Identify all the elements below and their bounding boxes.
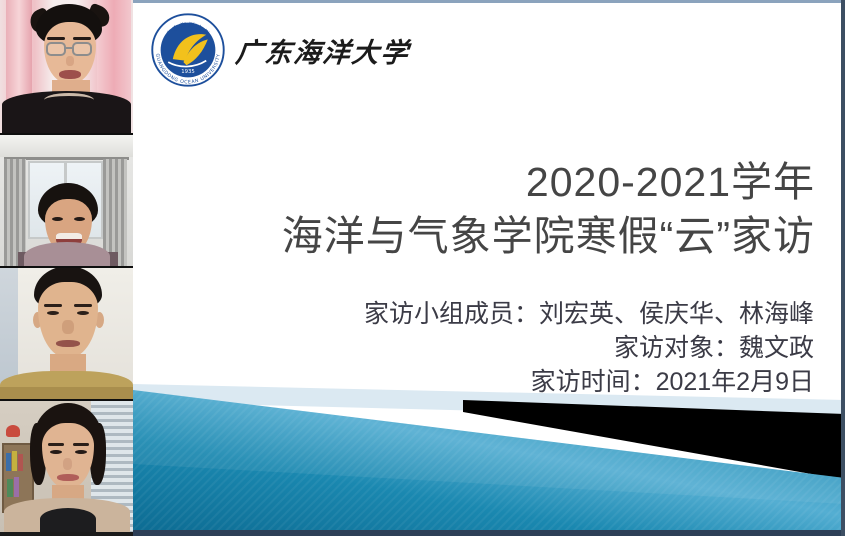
- video-tile-participant-4[interactable]: participant-4: [0, 399, 133, 532]
- eye-left: [50, 450, 62, 454]
- nose: [66, 56, 74, 66]
- decoration-svg: [133, 376, 845, 536]
- slide-subtitle-block: 家访小组成员：刘宏英、侯庆华、林海峰 家访对象：魏文政 家访时间：2021年2月…: [174, 298, 814, 399]
- mouth: [59, 70, 81, 79]
- video-tile-participant-2[interactable]: participant-2: [0, 133, 133, 266]
- eyeglass-bridge: [65, 47, 73, 49]
- eyeglass-lens-right: [72, 42, 92, 56]
- university-wordmark: 广东海洋大学: [234, 31, 412, 70]
- participant-video-strip[interactable]: participant-1 part: [0, 0, 133, 536]
- participant-3-video-frame: [0, 268, 133, 399]
- slide-top-border: [133, 0, 845, 3]
- participant-2-video-frame: [0, 135, 133, 266]
- mouth: [56, 340, 80, 347]
- slide-title-line-2: 海洋与气象学院寒假“云”家访: [175, 209, 815, 263]
- book: [12, 451, 17, 471]
- visit-subject: 家访对象：魏文政: [174, 332, 814, 366]
- teeth: [56, 233, 82, 239]
- svg-text:1935: 1935: [181, 69, 195, 75]
- eye-right: [74, 217, 85, 221]
- ceiling: [0, 135, 133, 157]
- eye-right: [75, 450, 87, 454]
- nose: [63, 458, 72, 470]
- eyebrow-right: [73, 443, 89, 446]
- eyebrow-right: [73, 37, 91, 40]
- nose: [62, 320, 74, 334]
- eyebrow-left: [48, 443, 64, 446]
- eye-left: [52, 217, 63, 221]
- eye-right: [77, 311, 89, 315]
- participant-4-video-frame: [0, 401, 133, 532]
- collar: [44, 93, 94, 107]
- book: [7, 479, 13, 497]
- university-emblem-icon: 1935 广东海洋大学 GUANGDONG OCEAN UNIVERSITY: [150, 12, 226, 88]
- video-tile-participant-3[interactable]: participant-3: [0, 266, 133, 399]
- video-tile-participant-1[interactable]: participant-1: [0, 0, 133, 133]
- book: [14, 477, 19, 497]
- curtain-left: [4, 159, 26, 266]
- book: [6, 453, 11, 471]
- slide-right-border: [841, 0, 845, 536]
- screen-share-window: participant-1 part: [0, 0, 845, 536]
- slide-bottom-bar: [133, 530, 845, 536]
- eyebrow-left: [47, 37, 65, 40]
- participant-1-video-frame: [0, 0, 133, 133]
- book: [18, 454, 23, 471]
- eyebrow-right: [74, 304, 92, 307]
- mouth: [57, 474, 79, 481]
- eyeglass-lens-left: [46, 42, 66, 56]
- visit-team-members: 家访小组成员：刘宏英、侯庆华、林海峰: [174, 298, 814, 332]
- shared-presentation-slide[interactable]: 1935 广东海洋大学 GUANGDONG OCEAN UNIVERSITY 广…: [133, 0, 845, 536]
- eye-left: [47, 311, 59, 315]
- university-logo-block: 1935 广东海洋大学 GUANGDONG OCEAN UNIVERSITY 广…: [150, 12, 410, 88]
- lamp: [6, 425, 20, 437]
- visit-date: 家访时间：2021年2月9日: [174, 366, 814, 400]
- emblem-svg: 1935 广东海洋大学 GUANGDONG OCEAN UNIVERSITY: [150, 12, 226, 88]
- slide-title-line-1: 2020-2021学年: [175, 155, 815, 209]
- inner-garment: [40, 508, 96, 532]
- slide-title-block: 2020-2021学年 海洋与气象学院寒假“云”家访: [175, 155, 815, 263]
- slide-decoration: [133, 376, 845, 536]
- eyebrow-left: [44, 304, 62, 307]
